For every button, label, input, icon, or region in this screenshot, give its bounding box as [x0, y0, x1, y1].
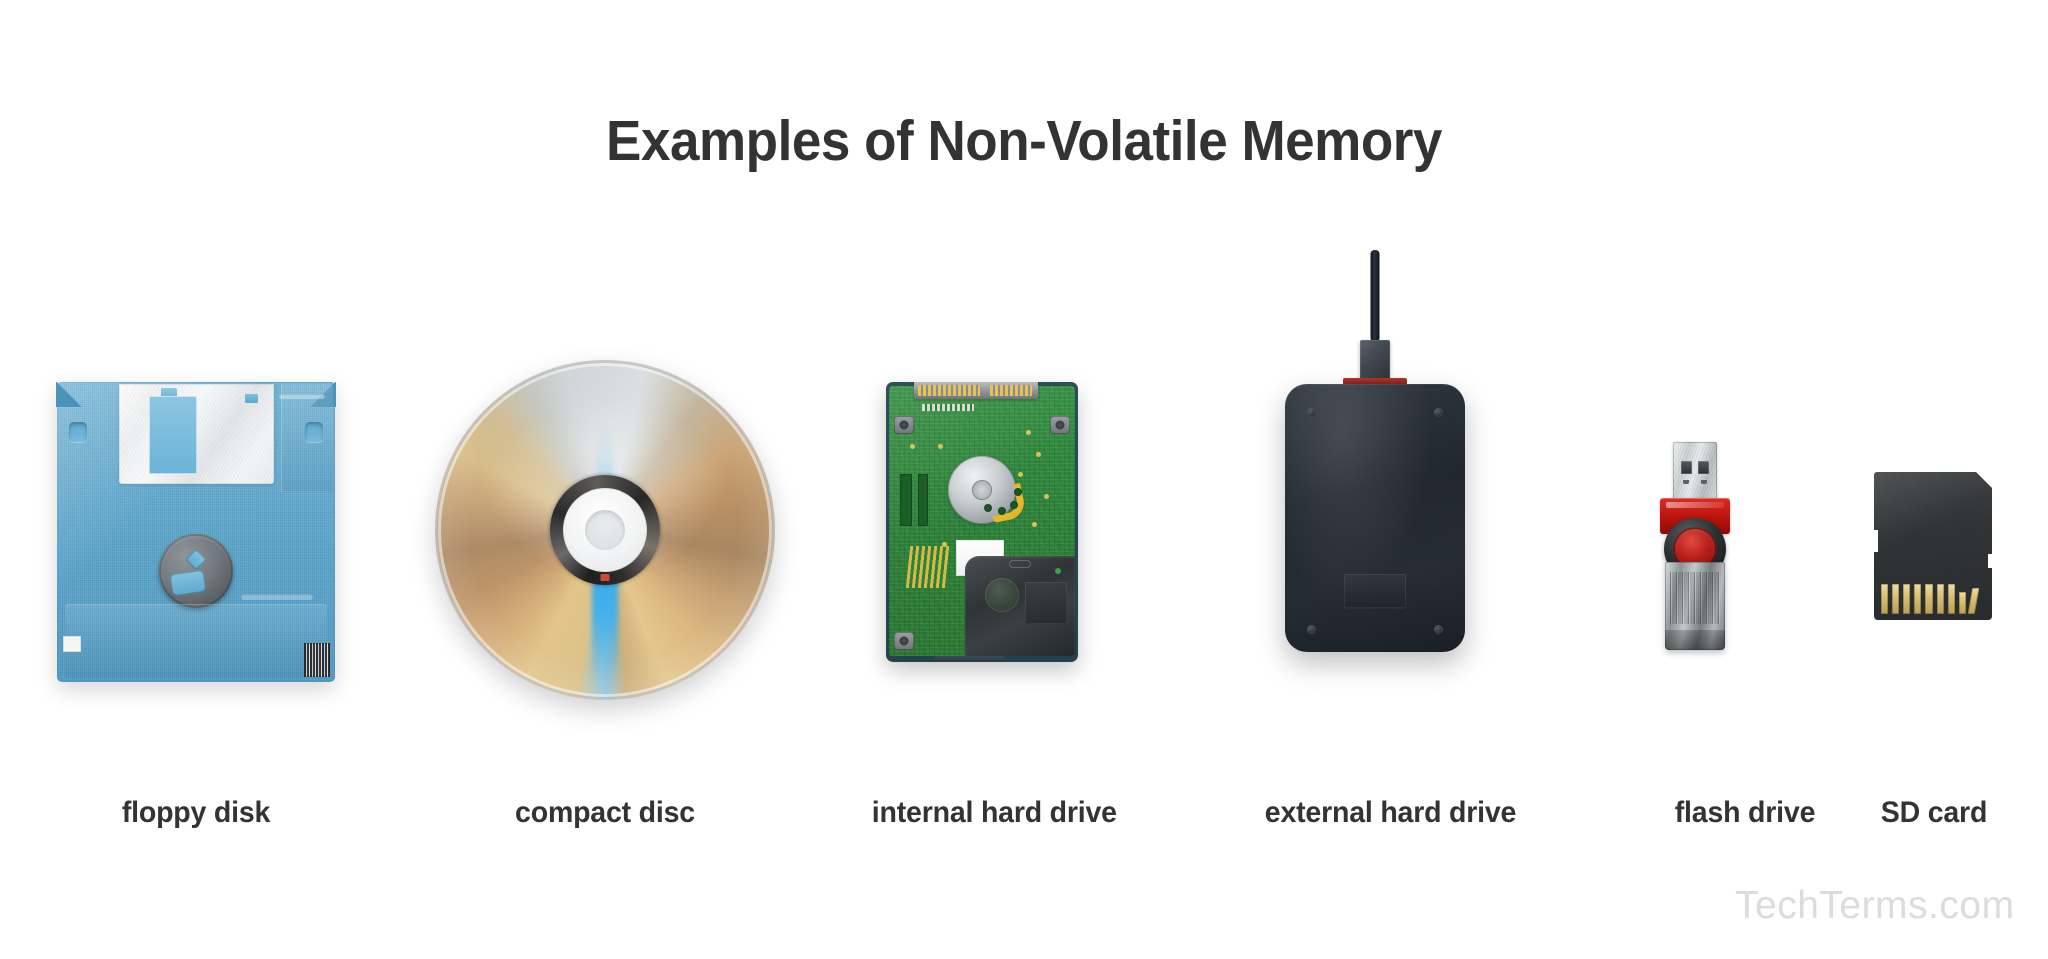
floppy-top-groove — [279, 394, 325, 399]
floppy-spindle-hub — [159, 534, 233, 608]
floppy-hub-drive-slot — [170, 570, 207, 597]
internal-hard-drive-image — [886, 382, 1078, 662]
caption-sd-card: SD card — [1871, 796, 1996, 830]
caption-floppy-disk: floppy disk — [64, 796, 328, 830]
floppy-alignment-hole-left — [69, 422, 87, 442]
floppy-shutter-marker — [245, 394, 258, 403]
floppy-shutter-window — [149, 396, 197, 474]
mount-point-top-right — [1050, 416, 1070, 434]
floppy-disk-body — [57, 382, 335, 682]
enclosure-screw-bottom-left — [1307, 625, 1316, 634]
flash-drive-ribbed-grip — [1670, 572, 1720, 624]
usb-contact-window-left — [1681, 461, 1692, 474]
caption-compact-disc: compact disc — [444, 796, 767, 830]
usb-notch-right — [1701, 480, 1707, 484]
sata-data-pins — [990, 385, 1032, 396]
flash-drive-image — [1655, 442, 1735, 652]
usb-contact-window-right — [1698, 461, 1709, 474]
sd-card-image — [1874, 472, 1992, 620]
external-hard-drive-image — [1285, 330, 1465, 670]
floppy-corner-notch-left — [56, 382, 82, 407]
flash-drive-usb-connector — [1673, 442, 1717, 506]
usb-connector-texture — [1673, 442, 1717, 506]
floppy-bottom-panel — [65, 604, 327, 678]
external-hard-drive-texture — [1285, 384, 1465, 652]
floppy-disk-image — [57, 382, 335, 682]
infographic-canvas: Examples of Non-Volatile Memory — [0, 0, 2048, 959]
housing-tab — [1009, 560, 1031, 568]
enclosure-screw-top-right — [1434, 408, 1443, 417]
internal-hard-drive-chassis — [886, 382, 1078, 662]
enclosure-label-recess — [1344, 574, 1406, 608]
mount-point-top-left — [894, 416, 914, 434]
compact-disc-surface — [435, 360, 775, 700]
flash-drive-housing-base — [1665, 630, 1725, 650]
caption-internal-hard-drive: internal hard drive — [872, 796, 1092, 830]
sd-card-gold-contacts — [1881, 582, 1977, 614]
floppy-hub-square-hole — [185, 549, 206, 570]
floppy-bottom-groove — [241, 594, 313, 600]
page-title: Examples of Non-Volatile Memory — [72, 108, 1977, 174]
usb-cable — [1371, 250, 1380, 342]
floppy-write-protect-tab — [63, 636, 81, 652]
housing-rect-plate — [1025, 582, 1067, 624]
compact-disc-center-hole — [585, 510, 625, 550]
pcb-smd-component-row — [922, 404, 974, 411]
flex-cable-contacts — [980, 482, 1020, 514]
sd-card-write-protect-notch — [1873, 530, 1878, 552]
caption-flash-drive: flash drive — [1657, 796, 1834, 830]
floppy-alignment-hole-right — [305, 422, 323, 442]
compact-disc-image — [435, 360, 775, 700]
sd-card-side-notch — [1988, 554, 1993, 568]
caption-external-hard-drive: external hard drive — [1265, 796, 1485, 830]
internal-hard-drive-bottom-bar — [934, 656, 1004, 662]
watermark: TechTerms.com — [1735, 884, 2015, 928]
pcb-edge-connector — [906, 546, 950, 588]
usb-notch-left — [1683, 480, 1689, 484]
enclosure-screw-top-left — [1307, 408, 1316, 417]
compact-disc-red-marker — [601, 574, 610, 581]
floppy-barcode-label — [304, 643, 330, 677]
housing-green-dot — [1055, 568, 1061, 574]
housing-circular-seal — [985, 578, 1019, 612]
flash-drive-housing — [1665, 562, 1725, 650]
floppy-metal-shutter — [119, 384, 274, 484]
internal-hard-drive-metal-housing — [965, 556, 1075, 656]
external-hard-drive-enclosure — [1285, 384, 1465, 652]
pcb-chip-a — [900, 474, 912, 526]
usb-connector — [1360, 340, 1390, 380]
collar-highlight — [1666, 502, 1724, 508]
sata-power-pins — [918, 385, 980, 396]
pcb-chip-b — [918, 474, 928, 526]
mount-point-bottom-left — [894, 632, 914, 650]
enclosure-screw-bottom-right — [1434, 625, 1443, 634]
